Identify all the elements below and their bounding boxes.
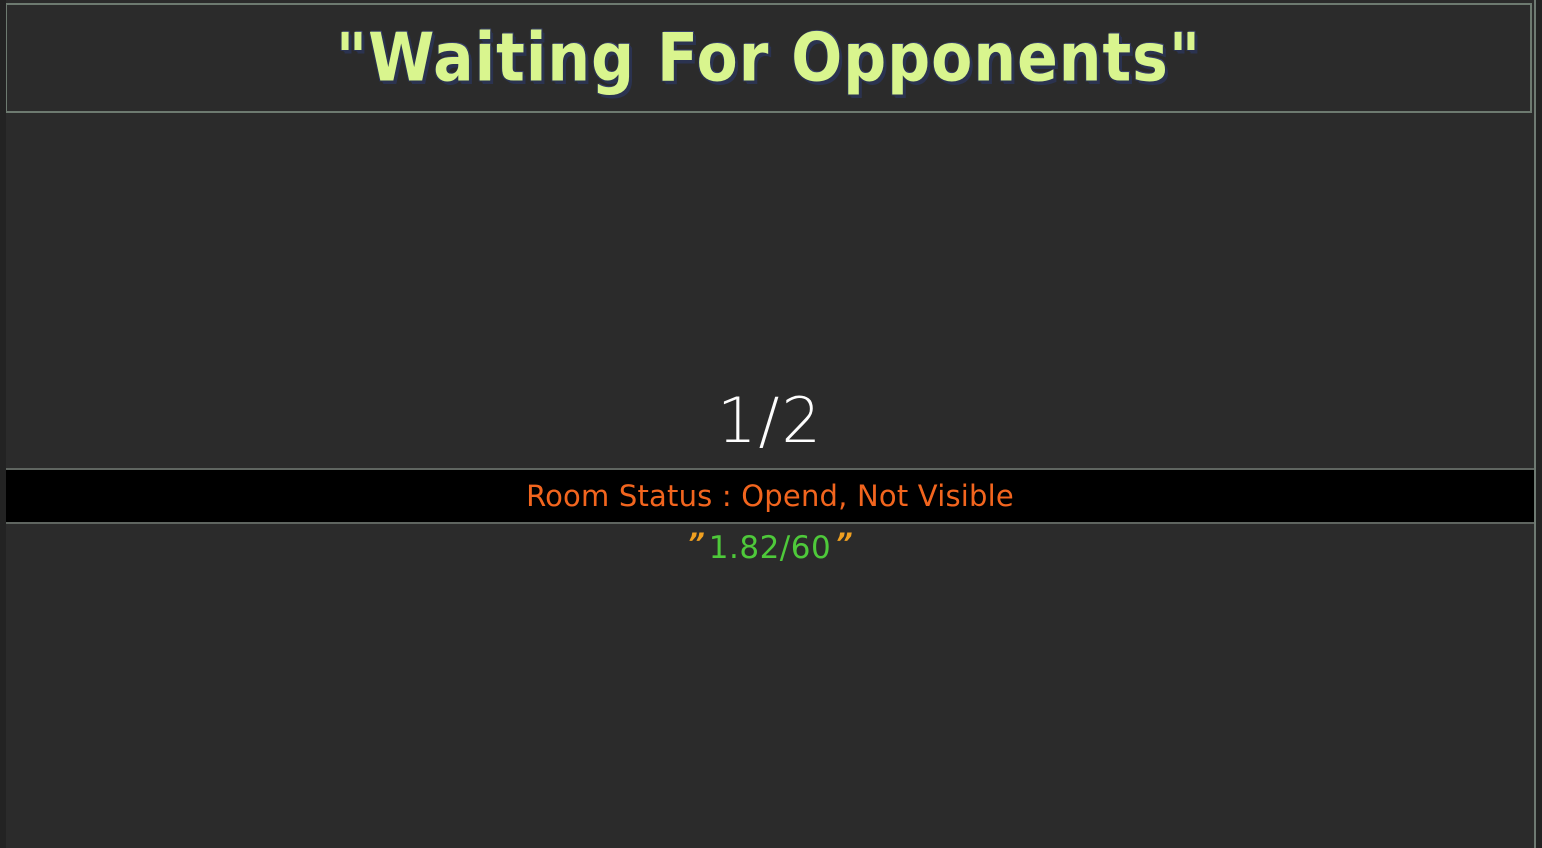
- timer-open-quote: ”: [687, 528, 704, 559]
- game-lobby-screen: "Waiting For Opponents" 1/2 Room Status …: [0, 0, 1542, 848]
- room-status-label: Room Status : Opend, Not Visible: [526, 479, 1014, 513]
- player-count-display: 1/2: [6, 390, 1534, 452]
- timer-close-quote: ”: [835, 528, 852, 559]
- header-banner: "Waiting For Opponents": [5, 3, 1532, 113]
- left-page-gutter: [0, 0, 6, 848]
- room-status-bar: Room Status : Opend, Not Visible: [6, 468, 1534, 524]
- right-edge-divider: [1534, 0, 1536, 848]
- page-title: "Waiting For Opponents": [336, 24, 1201, 91]
- lobby-stage: 1/2 Room Status : Opend, Not Visible ”1.…: [6, 115, 1534, 848]
- timer-value: 1.82/60: [705, 530, 835, 566]
- countdown-timer: ”1.82/60”: [6, 533, 1534, 564]
